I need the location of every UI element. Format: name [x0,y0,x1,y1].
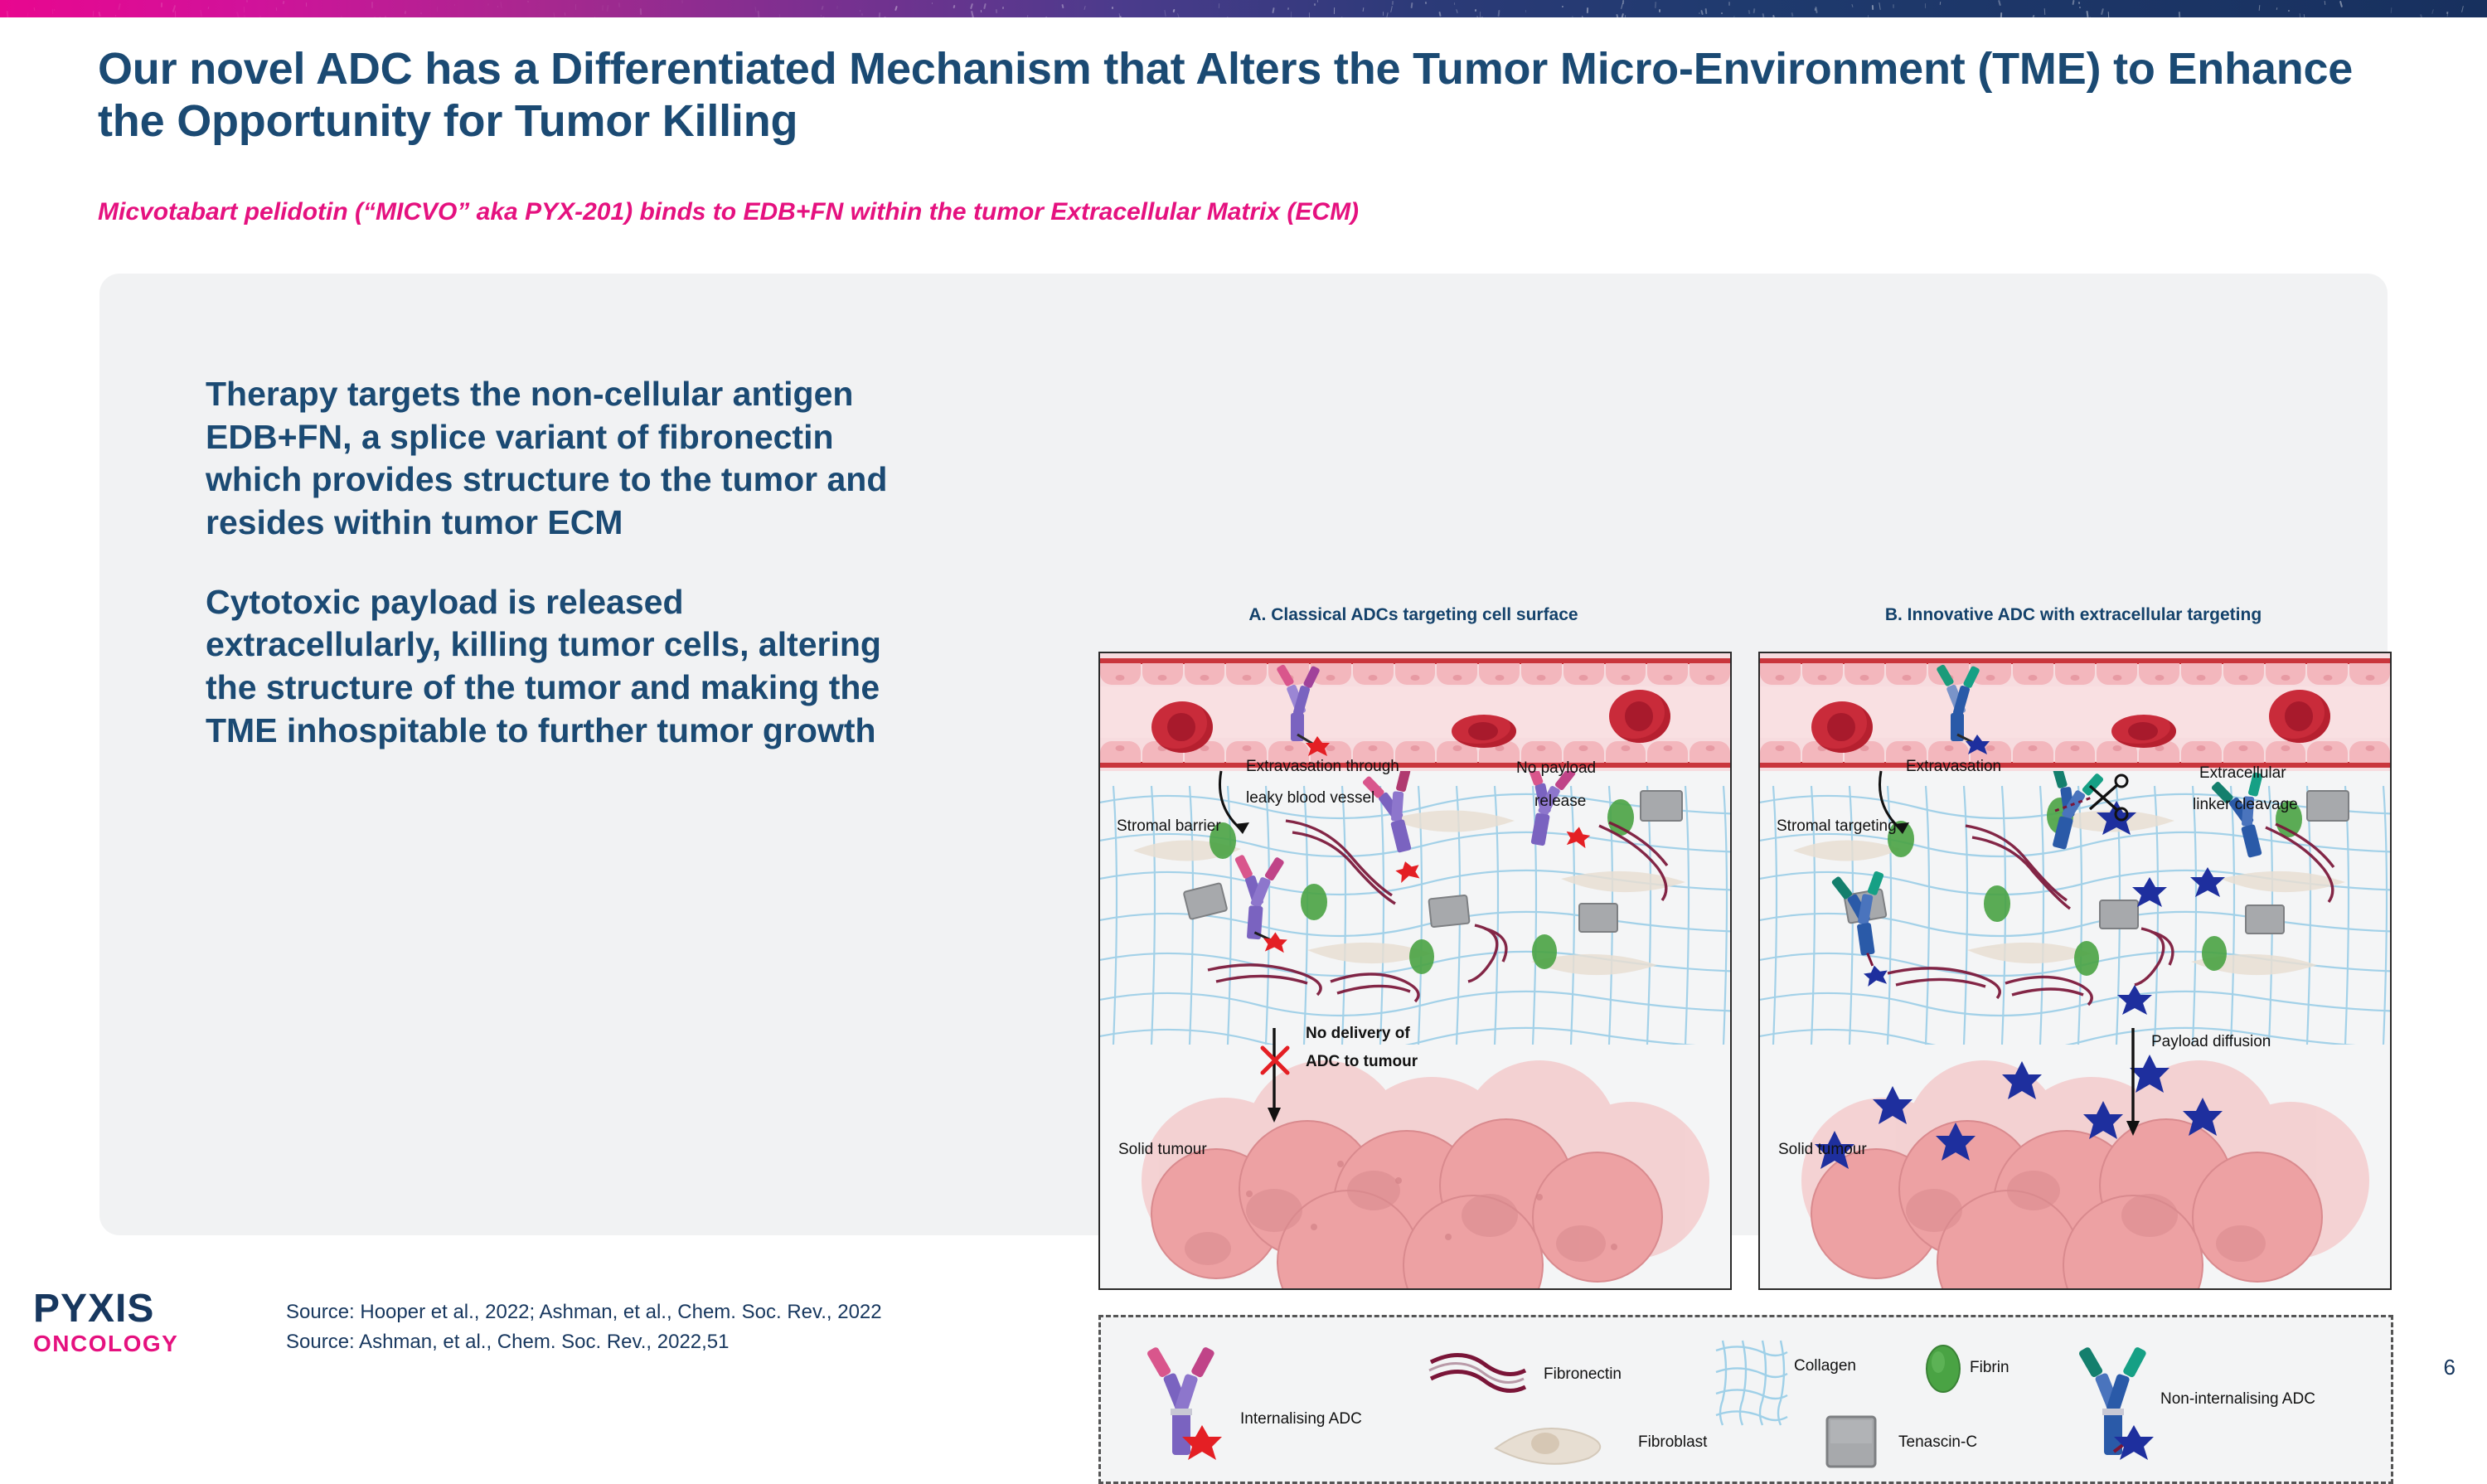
figure-legend: Internalising ADC Fibronectin [1098,1315,2393,1484]
label-no-delivery-line1: No delivery of [1306,1023,1410,1045]
legend-label-non-internalising-adc: Non-internalising ADC [2160,1390,2315,1409]
tenascin-c-icon [1822,1410,1880,1477]
label-no-payload-line2: release [1534,791,1586,812]
label-payload-diffusion: Payload diffusion [2151,1031,2271,1053]
collagen-icon [1714,1337,1789,1428]
key-point-2: Cytotoxic payload is released extracellu… [206,581,919,753]
source-line-1: Source: Hooper et al., 2022; Ashman, et … [286,1297,882,1327]
page-subtitle: Micvotabart pelidotin (“MICVO” aka PYX-2… [98,197,2386,227]
logo-secondary-text: ONCOLOGY [33,1332,224,1355]
page-number: 6 [2444,1355,2455,1380]
payload-star-icon [1966,735,1990,754]
figure-panel-a: Stromal barrier Extravasation through le… [1098,652,1732,1290]
blood-vessel-b [1760,653,2390,771]
adc-in-vessel-b [1760,653,2390,771]
legend-label-collagen: Collagen [1794,1357,1856,1375]
fibroblast-icon [1491,1415,1623,1473]
fibronectin-icon [1426,1342,1534,1417]
key-points-column: Therapy targets the non-cellular antigen… [206,373,919,788]
pyxis-oncology-logo: PYXIS ONCOLOGY [33,1289,224,1355]
solid-tumour-a [1100,1040,1730,1288]
legend-label-internalising-adc: Internalising ADC [1240,1410,1362,1428]
internalising-adc-icon [1124,1337,1240,1478]
legend-label-fibrin: Fibrin [1970,1359,2009,1377]
key-point-1: Therapy targets the non-cellular antigen… [206,373,919,545]
solid-tumour-b [1760,1040,2390,1288]
panel-b-title: B. Innovative ADC with extracellular tar… [1758,605,2388,625]
adc-in-vessel-a [1100,653,1730,771]
legend-label-fibroblast: Fibroblast [1638,1433,1707,1452]
page-title: Our novel ADC has a Differentiated Mecha… [98,43,2386,148]
ecm-stroma-a [1100,771,1730,1045]
logo-primary-text: PYXIS [33,1289,224,1329]
brand-gradient-bar [0,0,2487,17]
label-cleavage-line1: Extracellular [2199,763,2286,784]
non-internalising-adc-icon [2056,1336,2172,1477]
label-no-delivery-line2: ADC to tumour [1306,1051,1418,1073]
figure-panel-b: Stromal targeting Extravasation Extracel… [1758,652,2392,1290]
panel-a-title: A. Classical ADCs targeting cell surface [1098,605,1728,625]
legend-label-fibronectin: Fibronectin [1544,1365,1622,1384]
fibrin-icon [1923,1341,1965,1399]
blood-vessel-a [1100,653,1730,771]
label-stromal-targeting-b: Stromal targeting [1777,816,1897,837]
payload-star-icon [1306,736,1330,756]
label-no-payload-line1: No payload [1516,758,1596,779]
source-line-2: Source: Ashman, et al., Chem. Soc. Rev.,… [286,1327,882,1357]
source-citations: Source: Hooper et al., 2022; Ashman, et … [286,1297,882,1357]
label-solid-tumour-a: Solid tumour [1118,1139,1207,1161]
label-extravasation-b: Extravasation [1906,756,2001,778]
label-solid-tumour-b: Solid tumour [1778,1139,1867,1161]
content-card: Therapy targets the non-cellular antigen… [99,274,2388,1235]
label-cleavage-line2: linker cleavage [2193,794,2298,816]
label-extravasation-a-line1: Extravasation through [1246,756,1399,778]
legend-label-tenascin-c: Tenascin-C [1898,1433,1977,1452]
label-stromal-barrier-a: Stromal barrier [1117,816,1221,837]
label-extravasation-a-line2: leaky blood vessel [1246,788,1374,809]
